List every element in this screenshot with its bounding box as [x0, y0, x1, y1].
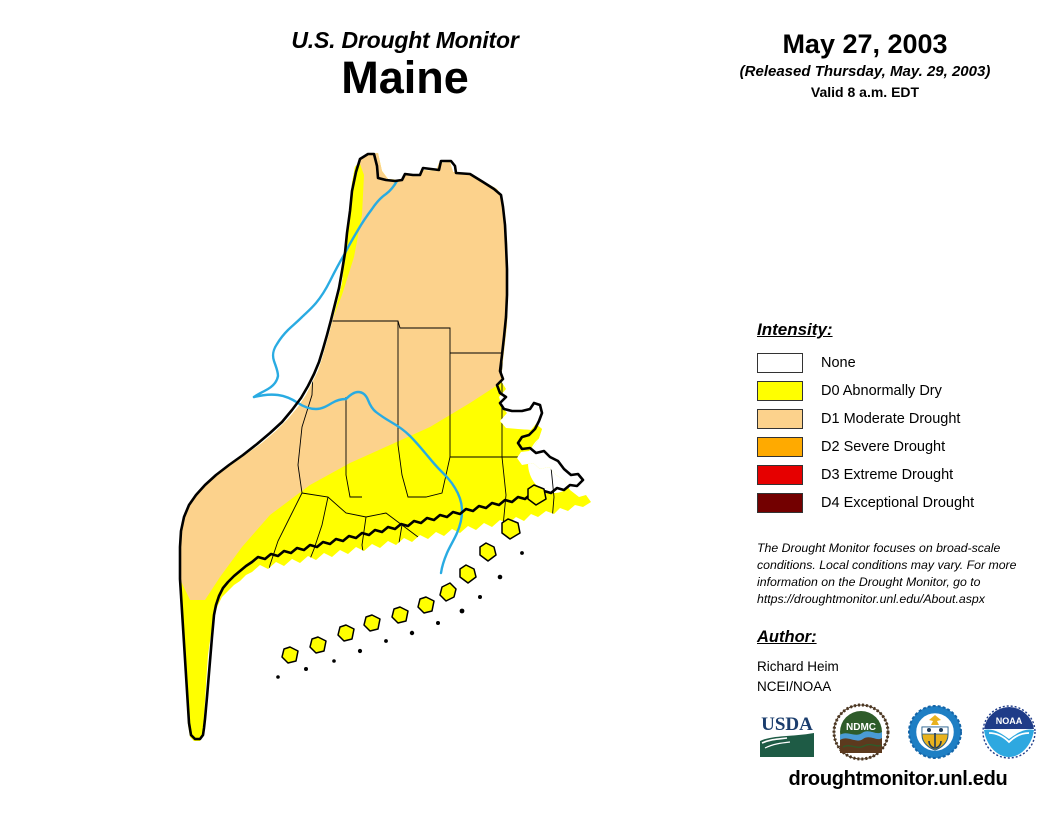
legend-label-d1: D1 Moderate Drought: [821, 411, 960, 427]
legend-swatch-d3: [757, 465, 803, 485]
noaa-logo-text: NOAA: [996, 716, 1023, 726]
legend-item-d0[interactable]: D0 Abnormally Dry: [757, 377, 1037, 405]
author-heading: Author:: [757, 628, 1025, 647]
partner-logos: USDA NDMC NOAA: [757, 702, 1039, 762]
author-panel: Author: Richard Heim NCEI/NOAA: [757, 628, 1025, 696]
legend-heading: Intensity:: [757, 320, 1037, 340]
ndmc-logo-text: NDMC: [846, 722, 876, 733]
map-fill-layer: [150, 145, 650, 745]
legend-item-d2[interactable]: D2 Severe Drought: [757, 433, 1037, 461]
legend-swatch-d4: [757, 493, 803, 513]
legend-swatch-d0: [757, 381, 803, 401]
disclaimer-text: The Drought Monitor focuses on broad-sca…: [757, 540, 1025, 608]
site-url[interactable]: droughtmonitor.unl.edu: [757, 768, 1039, 791]
ndmc-logo[interactable]: NDMC: [831, 703, 891, 761]
fill-none-east-coast: [528, 433, 580, 493]
legend-swatch-d1: [757, 409, 803, 429]
legend-item-d1[interactable]: D1 Moderate Drought: [757, 405, 1037, 433]
legend-item-d3[interactable]: D3 Extreme Drought: [757, 461, 1037, 489]
legend-swatch-d2: [757, 437, 803, 457]
page-title: Maine: [195, 54, 615, 103]
legend-label-none: None: [821, 355, 856, 371]
header-title-block: U.S. Drought Monitor Maine: [195, 28, 615, 103]
release-date: (Released Thursday, May. 29, 2003): [720, 64, 1010, 81]
legend-label-d3: D3 Extreme Drought: [821, 467, 953, 483]
usda-logo-text: USDA: [761, 714, 813, 735]
legend-item-none[interactable]: None: [757, 349, 1037, 377]
valid-time: Valid 8 a.m. EDT: [720, 85, 1010, 100]
legend-label-d2: D2 Severe Drought: [821, 439, 945, 455]
program-title: U.S. Drought Monitor: [195, 28, 615, 52]
legend-swatch-none: [757, 353, 803, 373]
map-date: May 27, 2003: [720, 30, 1010, 60]
maine-map-svg[interactable]: [150, 145, 650, 745]
legend-label-d0: D0 Abnormally Dry: [821, 383, 942, 399]
legend-label-d4: D4 Exceptional Drought: [821, 495, 974, 511]
drought-map[interactable]: [150, 145, 650, 745]
header-date-block: May 27, 2003 (Released Thursday, May. 29…: [720, 30, 1010, 101]
usdc-seal-logo[interactable]: [905, 703, 965, 761]
legend: Intensity: None D0 Abnormally Dry D1 Mod…: [757, 320, 1037, 517]
legend-item-d4[interactable]: D4 Exceptional Drought: [757, 489, 1037, 517]
author-affiliation: NCEI/NOAA: [757, 677, 1025, 697]
noaa-logo[interactable]: NOAA: [979, 703, 1039, 761]
usda-logo[interactable]: USDA: [757, 703, 817, 761]
author-name: Richard Heim: [757, 657, 1025, 677]
